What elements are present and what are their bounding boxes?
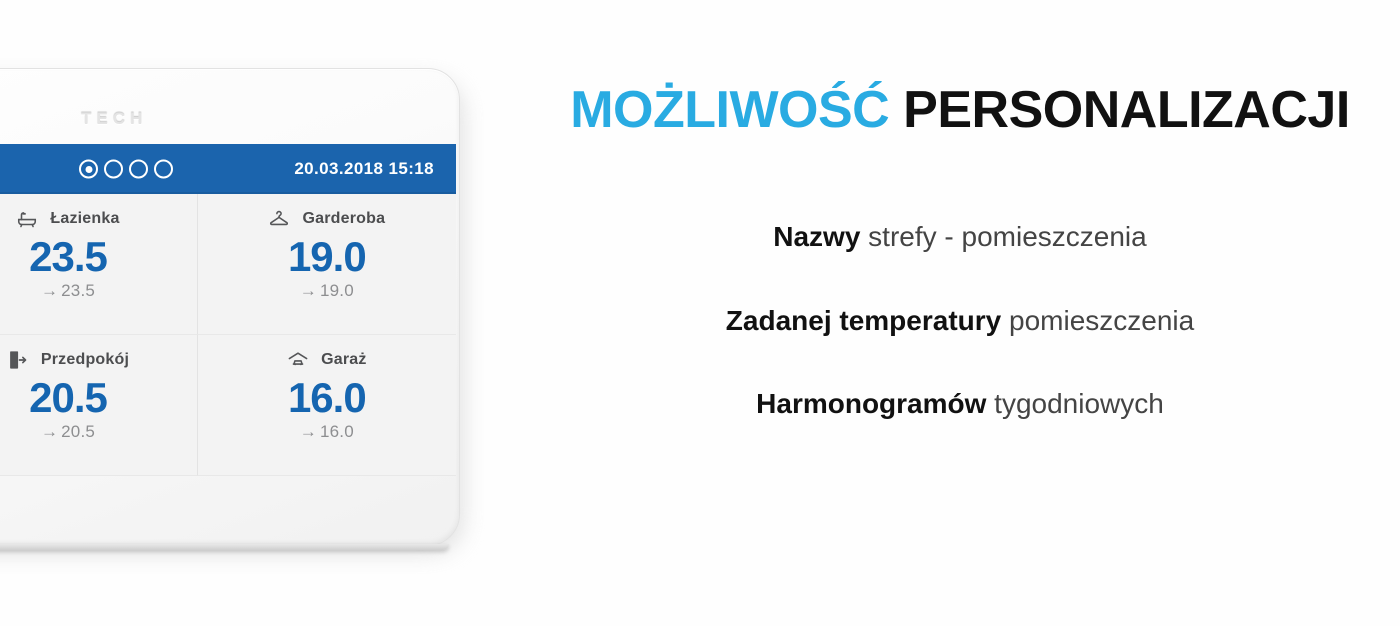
zone-current-temp: 19.0: [198, 236, 456, 279]
device-bezel: TECH 20.03.2018 15:18: [0, 68, 460, 546]
feature-line-2: Zadanej temperatury pomieszczenia: [520, 305, 1400, 337]
page-dot-3[interactable]: [129, 160, 148, 179]
arrow-icon: →: [41, 281, 58, 300]
zone-setpoint-value: 23.5: [61, 281, 95, 300]
feature-line-1: Nazwy strefy - pomieszczenia: [520, 221, 1400, 253]
zone-setpoint: →16.0: [198, 422, 456, 442]
arrow-icon: →: [41, 422, 58, 441]
zone-header: Garaż: [198, 347, 456, 373]
page-title-rest: PERSONALIZACJI: [889, 81, 1350, 139]
feature-line-1-strong: Nazwy: [773, 221, 860, 252]
feature-line-1-light: strefy - pomieszczenia: [860, 221, 1146, 252]
zone-grid: Salon 22.5 →22.5: [0, 194, 456, 476]
zone-tile-lazienka[interactable]: Łazienka 23.5 →23.5: [0, 194, 198, 335]
copy-panel: MOŻLIWOŚĆ PERSONALIZACJI Nazwy strefy - …: [520, 0, 1400, 626]
page-title-accent: MOŻLIWOŚĆ: [570, 81, 889, 139]
zone-name: Przedpokój: [41, 351, 129, 369]
zone-name: Garderoba: [302, 210, 385, 228]
zone-current-temp: 16.0: [198, 377, 456, 420]
screen-topbar: 20.03.2018 15:18: [0, 144, 456, 194]
thermostat-device: TECH 20.03.2018 15:18: [0, 68, 470, 554]
zone-header: Garderoba: [198, 206, 456, 232]
device-screen: 20.03.2018 15:18: [0, 144, 456, 476]
zone-tile-garaz[interactable]: Garaż 16.0 →16.0: [198, 335, 456, 476]
page-indicator-dots[interactable]: [79, 160, 173, 179]
page-dot-1[interactable]: [79, 160, 98, 179]
arrow-icon: →: [300, 281, 317, 300]
zone-current-temp: 20.5: [0, 377, 197, 420]
promo-slide: TECH 20.03.2018 15:18: [0, 0, 1400, 626]
zone-setpoint: →20.5: [0, 422, 197, 442]
feature-line-3-light: tygodniowych: [986, 388, 1163, 419]
door-icon: [7, 349, 29, 371]
tech-brand-logo: TECH: [81, 109, 147, 129]
page-dot-2[interactable]: [104, 160, 123, 179]
zone-tile-garderoba[interactable]: Garderoba 19.0 →19.0: [198, 194, 456, 335]
hanger-icon: [268, 208, 290, 230]
zone-setpoint-value: 16.0: [320, 422, 354, 441]
arrow-icon: →: [300, 422, 317, 441]
feature-line-2-strong: Zadanej temperatury: [726, 305, 1001, 336]
zone-setpoint-value: 20.5: [61, 422, 95, 441]
zone-setpoint: →23.5: [0, 281, 197, 301]
zone-setpoint-value: 19.0: [320, 281, 354, 300]
bathtub-icon: [16, 208, 38, 230]
feature-line-3-strong: Harmonogramów: [756, 388, 986, 419]
zone-header: Łazienka: [0, 206, 197, 232]
feature-line-2-light: pomieszczenia: [1001, 305, 1194, 336]
zone-current-temp: 23.5: [0, 236, 197, 279]
zone-setpoint: →19.0: [198, 281, 456, 301]
datetime-label: 20.03.2018 15:18: [294, 159, 434, 179]
page-title: MOŻLIWOŚĆ PERSONALIZACJI: [520, 80, 1400, 140]
garage-icon: [287, 349, 309, 371]
feature-line-3: Harmonogramów tygodniowych: [520, 388, 1400, 420]
zone-tile-przedpokoj[interactable]: Przedpokój 20.5 →20.5: [0, 335, 198, 476]
zone-name: Łazienka: [50, 210, 119, 228]
page-dot-4[interactable]: [154, 160, 173, 179]
zone-name: Garaż: [321, 351, 366, 369]
zone-header: Przedpokój: [0, 347, 197, 373]
